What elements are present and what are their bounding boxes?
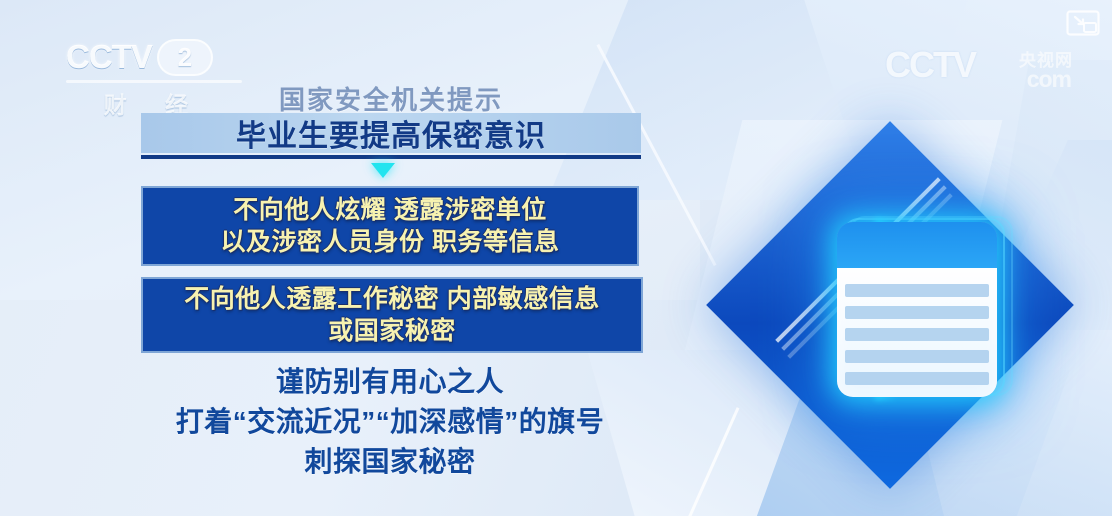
infographic-panel: 国家安全机关提示 毕业生要提高保密意识 不向他人炫耀 透露涉密单位 以及涉密人员…: [0, 0, 700, 516]
document-text-line: [845, 306, 989, 319]
cctv-com-watermark: CCTV 央视网 com: [885, 44, 1075, 94]
list-item-text: 不向他人炫耀 透露涉密单位 以及涉密人员身份 职务等信息: [221, 194, 560, 258]
list-item: 不向他人透露工作秘密 内部敏感信息 或国家秘密: [141, 277, 643, 353]
chevron-down-arrow: [371, 163, 395, 178]
document-header-bar: [837, 222, 997, 268]
watermark-network-label: CCTV: [885, 44, 975, 85]
document-card: [837, 222, 997, 397]
footer-message: 谨防别有用心之人 打着“交流近况”“加深感情”的旗号 刺探国家秘密: [100, 362, 680, 481]
picture-in-picture-icon[interactable]: [1066, 10, 1100, 36]
document-text-line: [845, 328, 989, 341]
title-underline: [141, 155, 641, 159]
page-title: 毕业生要提高保密意识: [141, 113, 641, 153]
document-text-line: [845, 284, 989, 297]
document-text-line: [845, 350, 989, 363]
broadcast-frame: CCTV 2 财 经 CCTV 央视网 com 国家安全机关提示 毕业生要提高保…: [0, 0, 1112, 516]
list-item-text: 不向他人透露工作秘密 内部敏感信息 或国家秘密: [184, 283, 599, 347]
document-list-icon: [725, 140, 1055, 470]
document-text-line: [845, 372, 989, 385]
watermark-domain-label: com: [1027, 66, 1071, 93]
list-item: 不向他人炫耀 透露涉密单位 以及涉密人员身份 职务等信息: [141, 186, 639, 266]
